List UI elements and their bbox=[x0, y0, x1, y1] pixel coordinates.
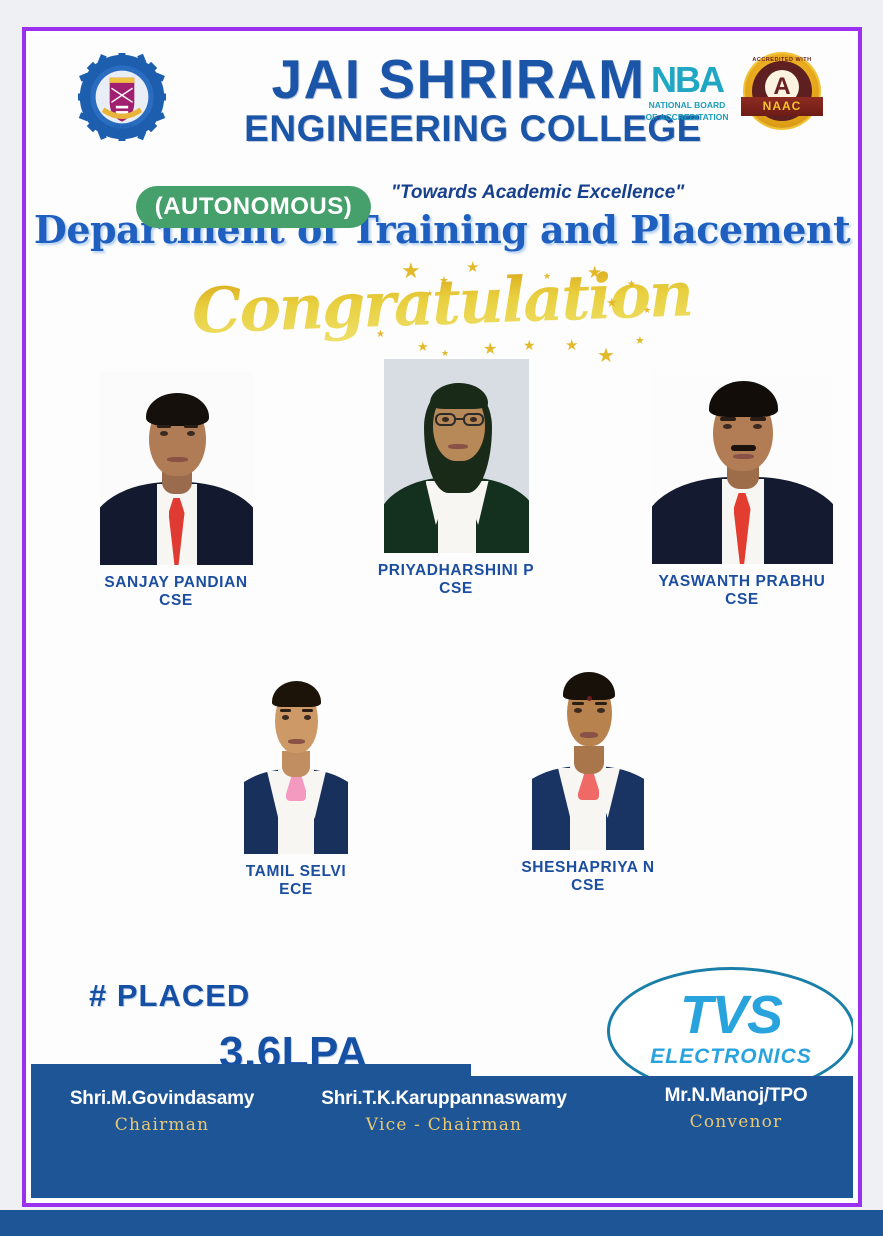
eyebrow-left bbox=[720, 417, 736, 421]
tvs-subtext: ELECTRONICS bbox=[607, 1045, 853, 1069]
college-crest-icon: TIRUPUR bbox=[78, 53, 166, 141]
nba-mark: NBA bbox=[641, 62, 733, 98]
eye-right bbox=[304, 715, 311, 720]
mouth-shape bbox=[733, 454, 754, 459]
student-photo bbox=[244, 659, 348, 854]
naac-outer-text: ACCREDITED WITH GRADE bbox=[745, 57, 819, 69]
placed-label: # PLACED bbox=[89, 978, 250, 1014]
autonomous-badge: (AUTONOMOUS) bbox=[136, 186, 371, 228]
college-tagline: "Towards Academic Excellence" bbox=[391, 182, 684, 204]
signatory-name: Shri.T.K.Karuppannaswamy bbox=[299, 1088, 589, 1110]
signatory-block: Shri.M.Govindasamy Chairman bbox=[37, 1088, 287, 1135]
eye-right bbox=[597, 708, 605, 713]
mouth-shape bbox=[580, 732, 598, 738]
eyebrow-right bbox=[750, 417, 766, 421]
star-icon: ★ bbox=[523, 338, 536, 352]
congratulation-text: Congratulation bbox=[191, 257, 693, 347]
student-photo bbox=[532, 654, 644, 850]
student-card: SANJAY PANDIAN CSE bbox=[61, 372, 291, 610]
eyebrow-left bbox=[572, 702, 584, 705]
student-photo bbox=[100, 372, 253, 565]
star-icon: ★ bbox=[543, 272, 551, 281]
neck-shape bbox=[574, 746, 604, 774]
student-card: YASWANTH PRABHU CSE bbox=[627, 369, 853, 609]
signatory-name: Shri.M.Govindasamy bbox=[37, 1088, 287, 1110]
student-card: TAMIL SELVI ECE bbox=[181, 659, 411, 899]
star-icon: ★ bbox=[483, 342, 497, 358]
footer-riser bbox=[31, 1064, 471, 1078]
eye-right bbox=[470, 417, 477, 422]
signatory-block: Mr.N.Manoj/TPO Convenor bbox=[621, 1085, 851, 1132]
nba-logo-icon: NBA NATIONAL BOARD OF ACCREDITATION bbox=[641, 54, 733, 122]
student-name: PRIYADHARSHINI P bbox=[341, 562, 571, 580]
star-icon: ★ bbox=[627, 280, 636, 290]
svg-text:TIRUPUR: TIRUPUR bbox=[110, 125, 134, 131]
naac-banner-label: NAAC bbox=[741, 97, 823, 116]
star-icon: ★ bbox=[635, 336, 645, 347]
mouth-shape bbox=[448, 444, 468, 449]
bindi-icon bbox=[587, 696, 592, 701]
eyebrow-left bbox=[280, 709, 291, 712]
star-icon: ★ bbox=[606, 296, 618, 309]
eye-right bbox=[187, 431, 195, 436]
star-icon: ★ bbox=[643, 306, 651, 315]
student-photo bbox=[384, 359, 529, 553]
student-department: CSE bbox=[473, 877, 703, 895]
glasses-bridge bbox=[456, 418, 463, 420]
eye-left bbox=[442, 417, 449, 422]
eyebrow-right bbox=[184, 425, 198, 428]
student-photo bbox=[652, 369, 833, 564]
poster-header: TIRUPUR JAI SHRIRAM ENGINEERING COLLEGE … bbox=[31, 36, 853, 211]
eye-left bbox=[574, 708, 582, 713]
star-icon: ★ bbox=[466, 260, 479, 275]
congratulation-banner: Congratulation ★ ★ ★ ★ ★ ★ ★ ★ ★ ★ ★ ★ ★… bbox=[31, 254, 853, 369]
naac-logo-icon: ACCREDITED WITH GRADE A NAAC bbox=[745, 54, 819, 128]
nba-sub-line2: OF ACCREDITATION bbox=[641, 112, 733, 122]
star-icon: ★ bbox=[587, 264, 602, 281]
student-name: SANJAY PANDIAN bbox=[61, 574, 291, 592]
signatory-role: Vice - Chairman bbox=[299, 1115, 589, 1135]
signatory-name: Mr.N.Manoj/TPO bbox=[621, 1085, 851, 1107]
student-card: PRIYADHARSHINI P CSE bbox=[341, 359, 571, 598]
student-department: CSE bbox=[627, 591, 853, 609]
star-icon: ★ bbox=[417, 340, 429, 353]
signatory-role: Convenor bbox=[621, 1112, 851, 1132]
star-icon: ★ bbox=[441, 349, 449, 358]
eye-left bbox=[723, 424, 732, 429]
student-name: TAMIL SELVI bbox=[181, 863, 411, 881]
poster-footer: Shri.M.Govindasamy Chairman Shri.T.K.Kar… bbox=[31, 1076, 853, 1198]
eye-right bbox=[753, 424, 762, 429]
signatory-block: Shri.T.K.Karuppannaswamy Vice - Chairman bbox=[299, 1088, 589, 1135]
screen: TIRUPUR JAI SHRIRAM ENGINEERING COLLEGE … bbox=[0, 0, 883, 1236]
accreditation-logos: NBA NATIONAL BOARD OF ACCREDITATION ACCR… bbox=[641, 54, 819, 128]
mouth-shape bbox=[167, 457, 188, 462]
eyebrow-right bbox=[302, 709, 313, 712]
star-icon: ★ bbox=[401, 260, 421, 282]
poster-frame: TIRUPUR JAI SHRIRAM ENGINEERING COLLEGE … bbox=[22, 27, 862, 1207]
student-department: CSE bbox=[61, 592, 291, 610]
star-icon: ★ bbox=[439, 276, 449, 287]
star-icon: ★ bbox=[565, 338, 578, 353]
star-icon: ★ bbox=[376, 330, 385, 340]
neck-shape bbox=[282, 751, 310, 777]
eyebrow-right bbox=[595, 702, 607, 705]
student-department: ECE bbox=[181, 881, 411, 899]
eye-left bbox=[160, 431, 168, 436]
moustache-shape bbox=[731, 445, 756, 451]
mouth-shape bbox=[288, 739, 305, 744]
signatory-role: Chairman bbox=[37, 1115, 287, 1135]
poster: TIRUPUR JAI SHRIRAM ENGINEERING COLLEGE … bbox=[31, 36, 853, 1198]
student-name: SHESHAPRIYA N bbox=[473, 859, 703, 877]
student-department: CSE bbox=[341, 580, 571, 598]
student-card: SHESHAPRIYA N CSE bbox=[473, 654, 703, 895]
nba-sub-line1: NATIONAL BOARD bbox=[641, 100, 733, 110]
eyebrow-left bbox=[157, 425, 171, 428]
bottom-system-bar bbox=[0, 1210, 883, 1236]
star-icon: ★ bbox=[597, 346, 615, 366]
star-icon: ★ bbox=[426, 290, 433, 298]
student-name: YASWANTH PRABHU bbox=[627, 573, 853, 591]
eye-left bbox=[282, 715, 289, 720]
tvs-wordmark: TVS bbox=[607, 987, 853, 1043]
